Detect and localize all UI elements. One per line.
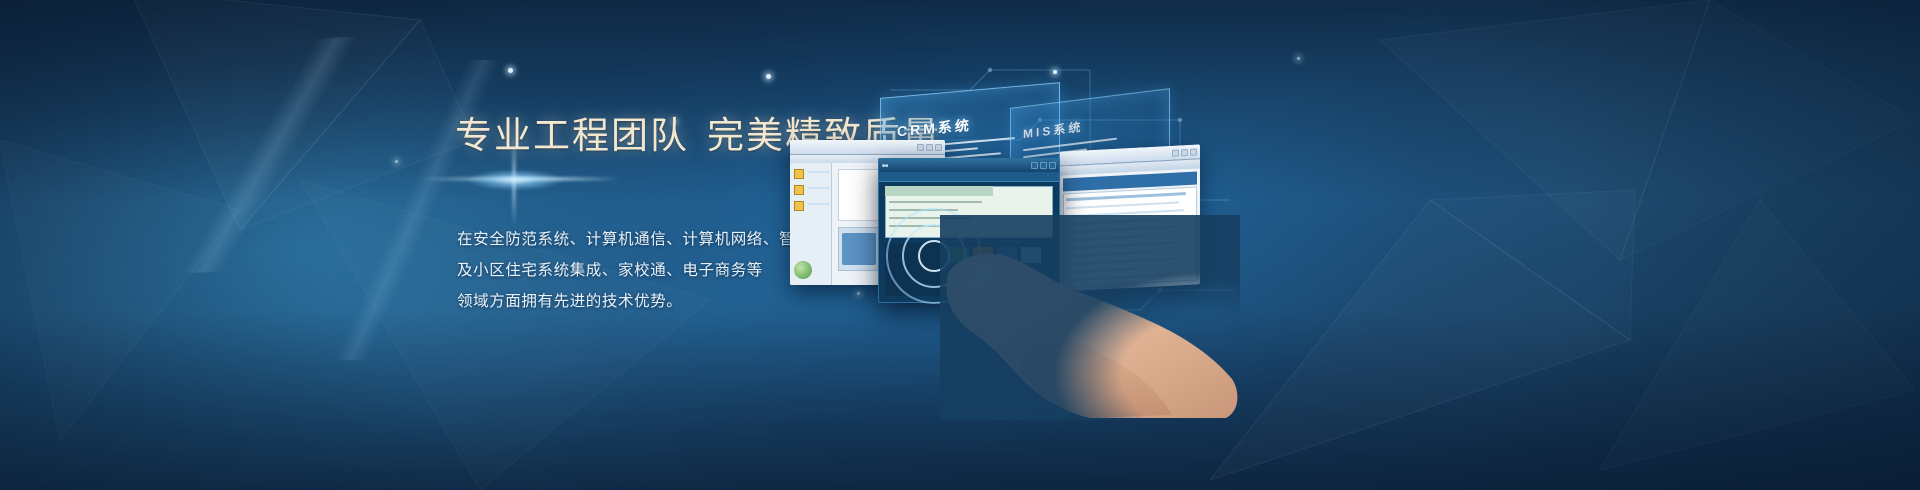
screen-mis-label: MIS系统 [1023, 118, 1083, 142]
screen-panel-header [885, 186, 993, 196]
window-controls[interactable] [917, 144, 942, 151]
screen-toolbar[interactable] [879, 172, 1059, 182]
window-controls[interactable] [1172, 148, 1197, 156]
window-controls[interactable] [1031, 162, 1056, 169]
hero-banner: 专业工程团队完美精致质量 在安全防范系统、计算机通信、计算机网络、智能大厦 及小… [0, 0, 1920, 490]
sparkle-dot [395, 160, 398, 163]
screen-titlebar [790, 140, 945, 155]
sparkle-dot [1297, 57, 1300, 60]
screen-titlebar: ■■ [879, 159, 1059, 172]
screen-crm-label: CRM系统 [897, 115, 972, 142]
pointing-hand-icon [940, 215, 1240, 420]
sparkle-dot [508, 68, 513, 73]
headline-part-1: 专业工程团队 [455, 116, 689, 157]
